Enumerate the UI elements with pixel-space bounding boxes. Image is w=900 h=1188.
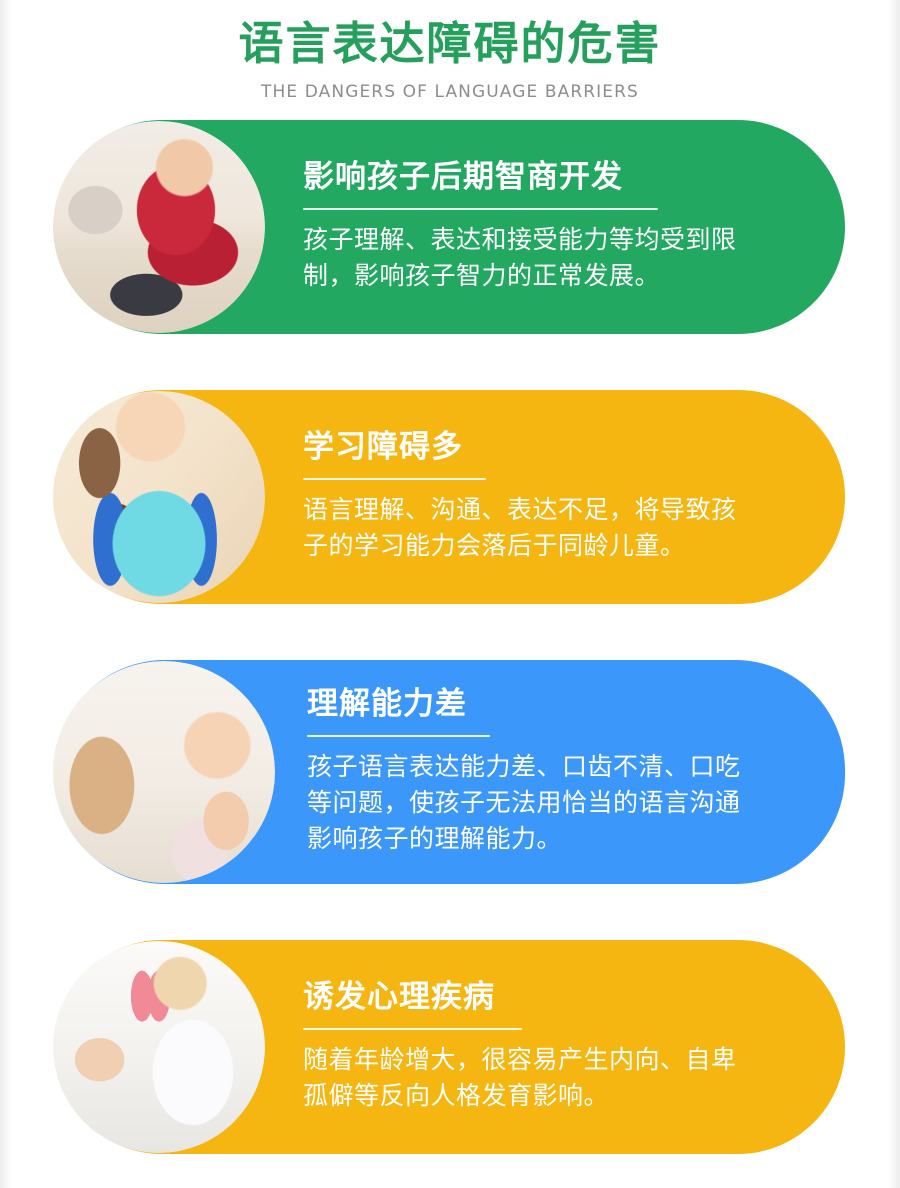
card-divider-2 [303, 478, 486, 480]
infographic-page: 语言表达障碍的危害 THE DANGERS OF LANGUAGE BARRIE… [0, 0, 900, 1188]
card-text-line: 子的学习能力会落后于同龄儿童。 [303, 528, 737, 564]
schoolgirl-with-books-photo [53, 391, 265, 603]
card-text-line: 孩子语言表达能力差、口齿不清、口吃 [307, 749, 741, 785]
page-header: 语言表达障碍的危害 THE DANGERS OF LANGUAGE BARRIE… [0, 0, 900, 102]
card-text-line: 孩子理解、表达和接受能力等均受到限 [303, 222, 737, 258]
card-text-line: 随着年龄增大，很容易产生内向、自卑 [303, 1042, 737, 1078]
card-title-4: 诱发心理疾病 [303, 979, 737, 1016]
child-talking-photo [53, 121, 265, 333]
card-text-line: 等问题，使孩子无法用恰当的语言沟通 [307, 785, 741, 821]
card-body-4: 诱发心理疾病 随着年龄增大，很容易产生内向、自卑 孤僻等反向人格发育影响。 [303, 979, 781, 1115]
card-photo-2 [53, 391, 265, 603]
card-text-4: 随着年龄增大，很容易产生内向、自卑 孤僻等反向人格发育影响。 [303, 1042, 737, 1115]
card-text-line: 语言理解、沟通、表达不足，将导致孩 [303, 492, 737, 528]
page-subtitle: THE DANGERS OF LANGUAGE BARRIERS [0, 82, 900, 102]
card-divider-4 [303, 1028, 522, 1030]
card-photo-3 [53, 661, 275, 883]
card-body-3: 理解能力差 孩子语言表达能力差、口齿不清、口吃 等问题，使孩子无法用恰当的语言沟… [307, 686, 785, 858]
danger-card-2[interactable]: 学习障碍多 语言理解、沟通、表达不足，将导致孩 子的学习能力会落后于同龄儿童。 [55, 390, 845, 604]
doctor-examining-child-photo [53, 941, 265, 1153]
card-text-1: 孩子理解、表达和接受能力等均受到限 制，影响孩子智力的正常发展。 [303, 222, 737, 295]
danger-card-4[interactable]: 诱发心理疾病 随着年龄增大，很容易产生内向、自卑 孤僻等反向人格发育影响。 [55, 940, 845, 1154]
card-title-3: 理解能力差 [307, 686, 741, 723]
danger-card-1[interactable]: 影响孩子后期智商开发 孩子理解、表达和接受能力等均受到限 制，影响孩子智力的正常… [55, 120, 845, 334]
danger-card-3[interactable]: 理解能力差 孩子语言表达能力差、口齿不清、口吃 等问题，使孩子无法用恰当的语言沟… [55, 660, 845, 884]
card-text-2: 语言理解、沟通、表达不足，将导致孩 子的学习能力会落后于同龄儿童。 [303, 492, 737, 565]
card-text-line: 制，影响孩子智力的正常发展。 [303, 258, 737, 294]
card-text-line: 影响孩子的理解能力。 [307, 821, 741, 857]
card-text-line: 孤僻等反向人格发育影响。 [303, 1078, 737, 1114]
card-title-2: 学习障碍多 [303, 429, 737, 466]
card-divider-3 [307, 735, 490, 737]
danger-card-list: 影响孩子后期智商开发 孩子理解、表达和接受能力等均受到限 制，影响孩子智力的正常… [0, 120, 900, 1154]
card-photo-1 [53, 121, 265, 333]
page-title: 语言表达障碍的危害 [0, 14, 900, 75]
card-photo-4 [53, 941, 265, 1153]
card-body-2: 学习障碍多 语言理解、沟通、表达不足，将导致孩 子的学习能力会落后于同龄儿童。 [303, 429, 781, 565]
speech-therapy-photo [53, 661, 275, 883]
card-title-1: 影响孩子后期智商开发 [303, 159, 737, 196]
card-body-1: 影响孩子后期智商开发 孩子理解、表达和接受能力等均受到限 制，影响孩子智力的正常… [303, 159, 781, 295]
card-divider-1 [303, 208, 658, 210]
card-text-3: 孩子语言表达能力差、口齿不清、口吃 等问题，使孩子无法用恰当的语言沟通 影响孩子… [307, 749, 741, 858]
